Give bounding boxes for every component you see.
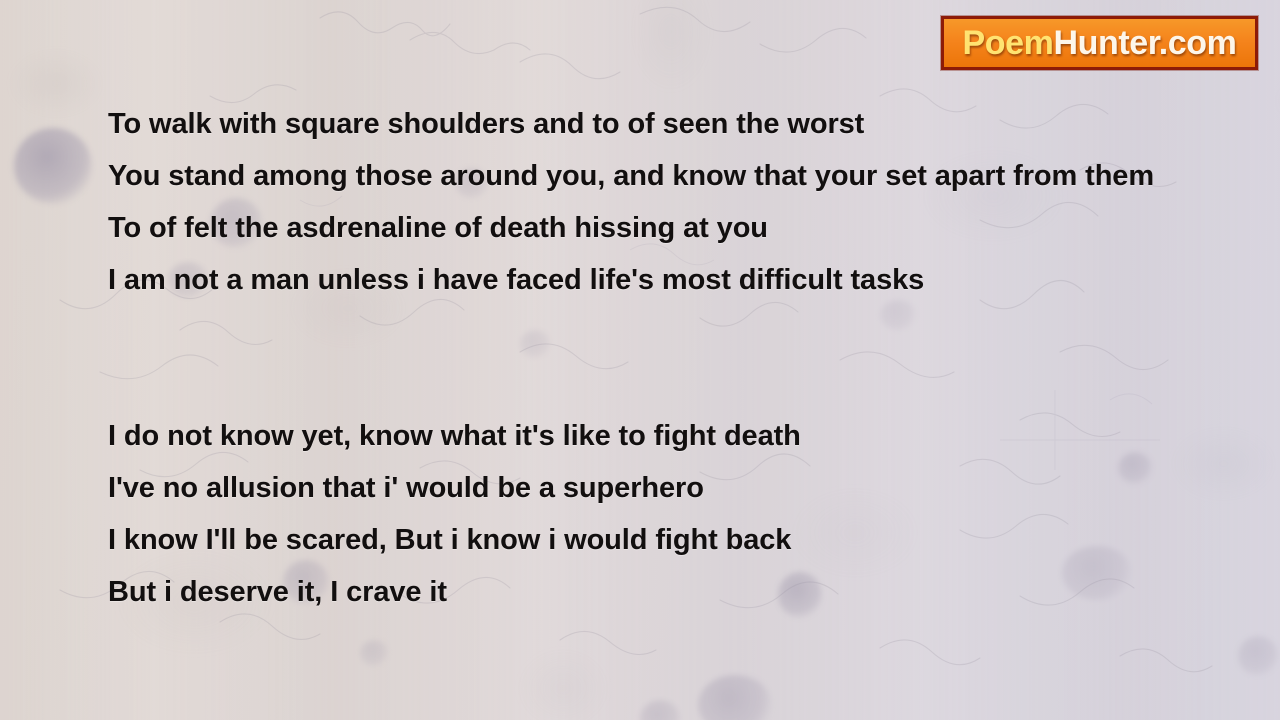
logo-text-hunter: Hunter.com xyxy=(1053,24,1236,62)
logo-text-poem: Poem xyxy=(962,24,1053,62)
poem-image-canvas: PoemHunter.com To walk with square shoul… xyxy=(0,0,1280,720)
poem-line: But i deserve it, I crave it xyxy=(108,566,1280,618)
poem-line: I've no allusion that i' would be a supe… xyxy=(108,462,1280,514)
poem-line: To walk with square shoulders and to of … xyxy=(108,98,1280,150)
poem-line: I am not a man unless i have faced life'… xyxy=(108,254,1280,306)
poem-line-blank xyxy=(108,358,1280,410)
ink-blot xyxy=(360,640,388,666)
ink-blot xyxy=(1238,636,1278,676)
poem-line: To of felt the asdrenaline of death hiss… xyxy=(108,202,1280,254)
poem-line: I know I'll be scared, But i know i woul… xyxy=(108,514,1280,566)
poem-line: You stand among those around you, and kn… xyxy=(108,150,1280,202)
poem-body: To walk with square shoulders and to of … xyxy=(108,98,1280,618)
ink-blot xyxy=(14,128,92,204)
poem-line: I do not know yet, know what it's like t… xyxy=(108,410,1280,462)
poemhunter-logo[interactable]: PoemHunter.com xyxy=(941,16,1258,70)
poem-line-blank xyxy=(108,306,1280,358)
